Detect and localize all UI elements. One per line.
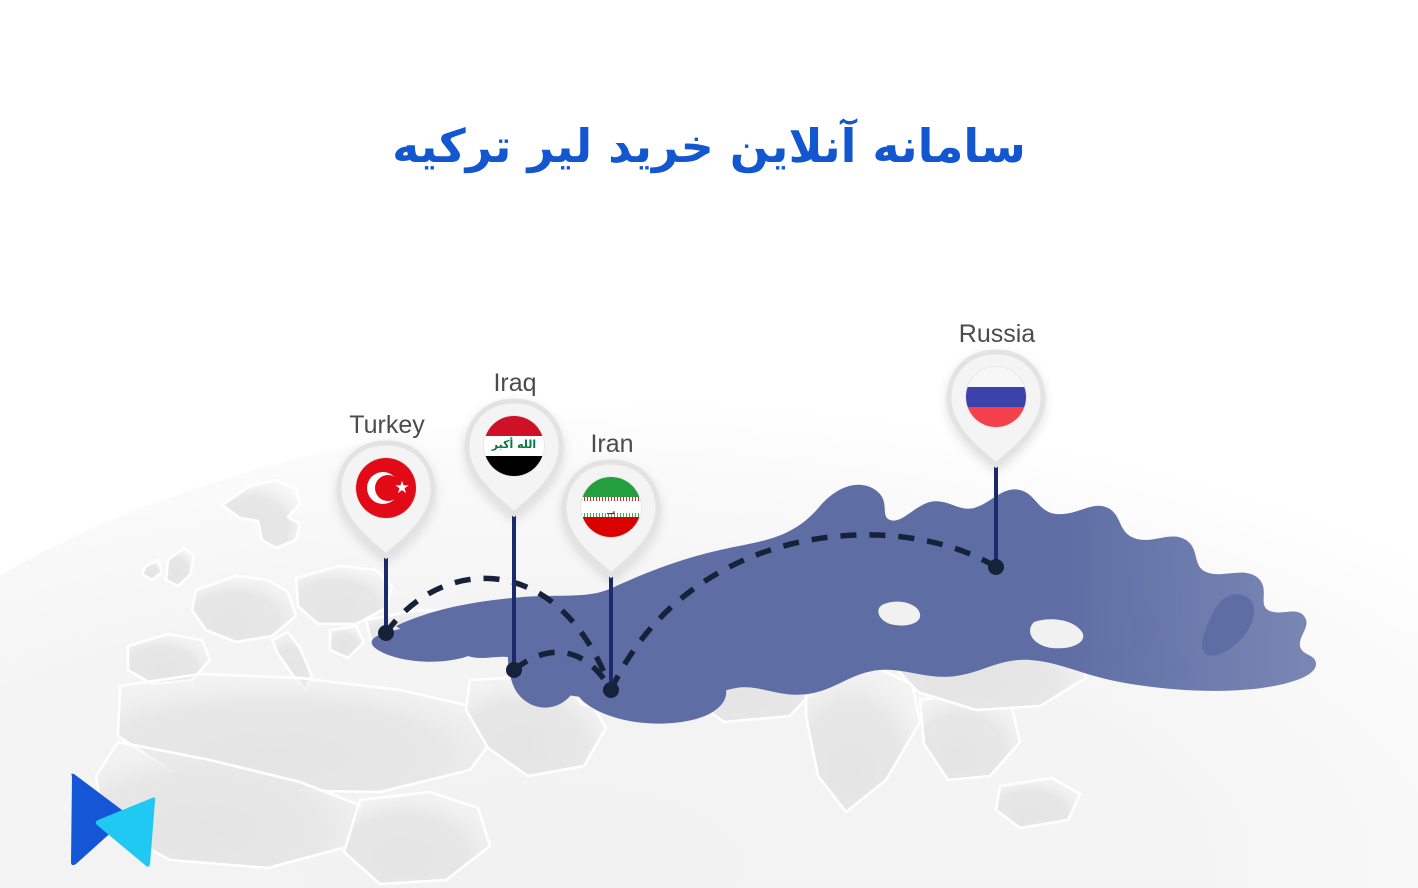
brand-logo[interactable] bbox=[64, 768, 158, 870]
marker-label-russia: Russia bbox=[911, 320, 1083, 349]
marker-label-iran: Iran bbox=[526, 430, 698, 459]
marker-label-turkey: Turkey bbox=[301, 411, 473, 440]
marker-russia[interactable]: Russia bbox=[951, 320, 1043, 470]
turkey-flag-icon: ★ bbox=[356, 458, 416, 518]
iran-flag-icon: ؀ bbox=[581, 477, 641, 537]
russia-flag-icon bbox=[966, 367, 1026, 427]
marker-turkey[interactable]: Turkey ★ bbox=[341, 411, 433, 561]
marker-iran[interactable]: Iran ؀ bbox=[566, 430, 658, 580]
iran-emblem-icon: ؀ bbox=[581, 499, 641, 515]
page-title: سامانه آنلاین خرید لیر ترکیه bbox=[0, 118, 1418, 176]
marker-label-iraq: Iraq bbox=[429, 369, 601, 398]
page-root: سامانه آنلاین خرید لیر ترکیه Turkey ★ Ir… bbox=[0, 0, 1418, 888]
